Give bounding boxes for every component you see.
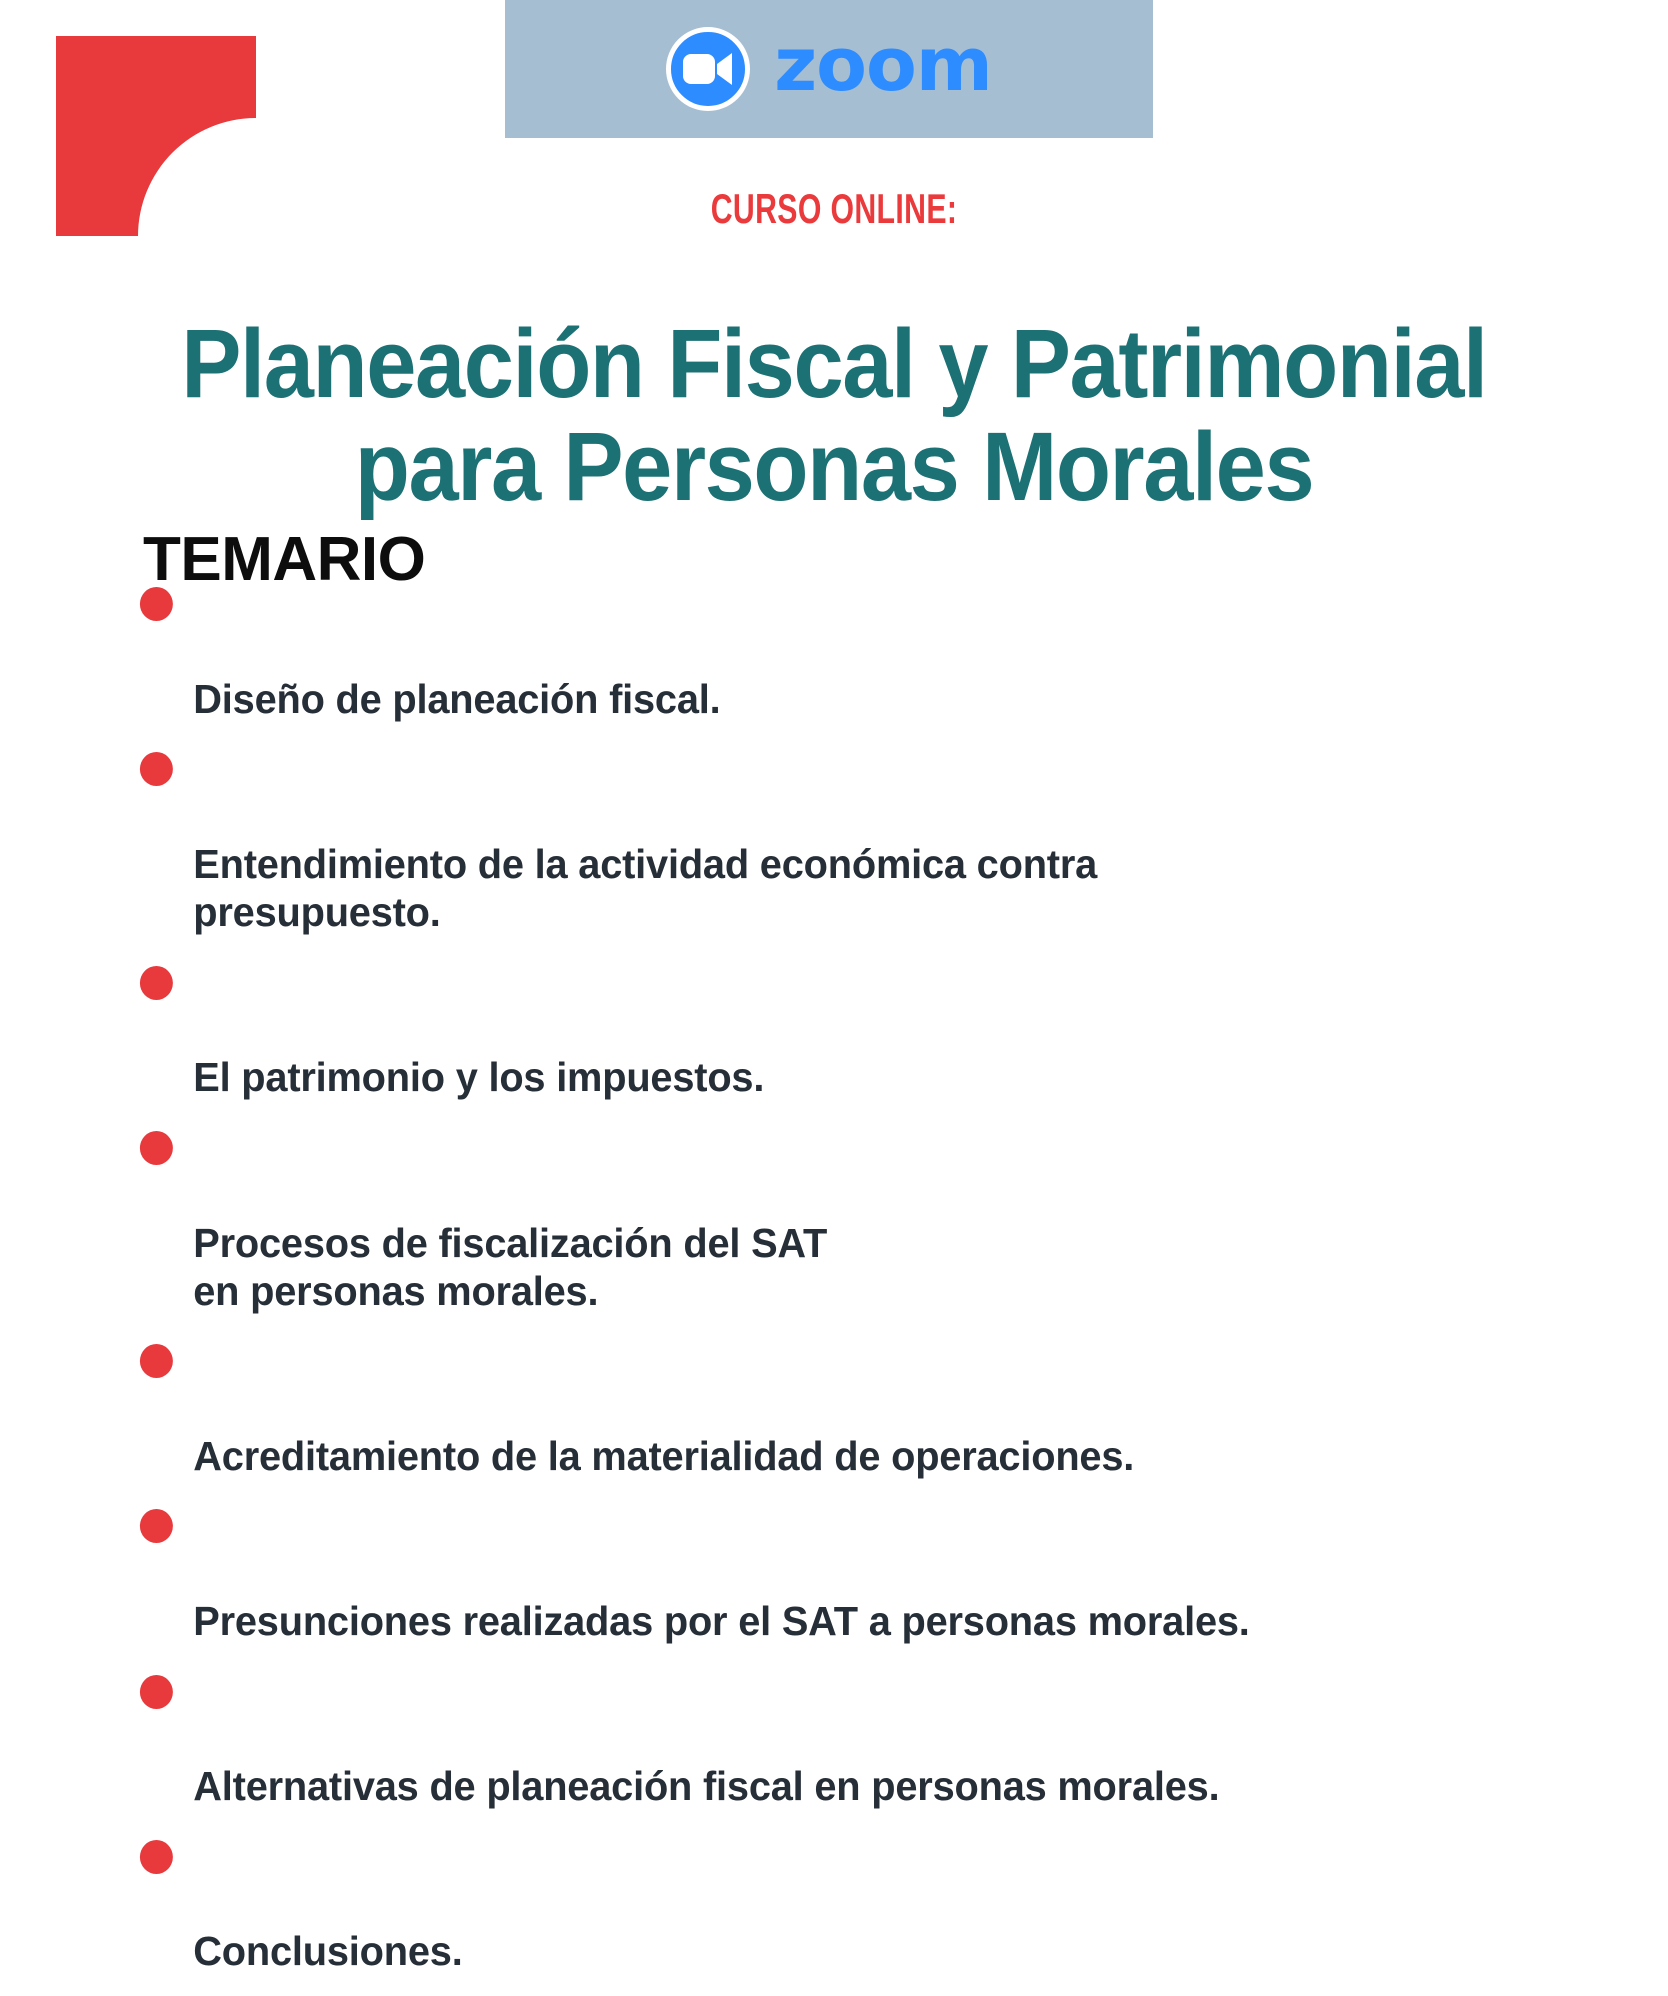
bullet-dot-icon <box>140 1840 173 1874</box>
list-item: Entendimiento de la actividad económica … <box>137 743 1544 937</box>
bullet-dot-icon <box>140 1344 173 1378</box>
list-item-label: Entendimiento de la actividad económica … <box>193 841 1097 935</box>
agenda-topic-list: Diseño de planeación fiscal. Entendimien… <box>137 578 1587 1996</box>
course-eyebrow-label: CURSO ONLINE: <box>234 185 1435 233</box>
bullet-dot-icon <box>140 752 173 786</box>
bullet-dot-icon <box>140 587 173 621</box>
list-item-label: Conclusiones. <box>193 1928 462 1974</box>
list-item: Acreditamiento de la materialidad de ope… <box>137 1335 1544 1480</box>
zoom-wordmark: zoom <box>774 28 992 102</box>
list-item: El patrimonio y los impuestos. <box>137 957 1544 1102</box>
bullet-dot-icon <box>140 1131 173 1165</box>
list-item: Procesos de fiscalización del SAT en per… <box>137 1122 1544 1316</box>
bullet-dot-icon <box>140 1509 173 1543</box>
zoom-logo-icon <box>666 27 750 111</box>
bullet-dot-icon <box>140 1675 173 1709</box>
bullet-dot-icon <box>140 966 173 1000</box>
list-item-label: Acreditamiento de la materialidad de ope… <box>193 1433 1134 1479</box>
list-item-label: Diseño de planeación fiscal. <box>193 676 720 722</box>
list-item: Diseño de planeación fiscal. <box>137 578 1544 723</box>
list-item: Alternativas de planeación fiscal en per… <box>137 1666 1544 1811</box>
red-quarter-arc-decoration <box>56 36 256 236</box>
video-camera-icon <box>683 52 733 86</box>
page-title: Planeación Fiscal y Patrimonial para Per… <box>58 313 1609 519</box>
list-item: Conclusiones. <box>137 1831 1544 1976</box>
list-item-label: Presunciones realizadas por el SAT a per… <box>193 1598 1249 1644</box>
list-item-label: Procesos de fiscalización del SAT en per… <box>193 1220 827 1314</box>
list-item: Presunciones realizadas por el SAT a per… <box>137 1500 1544 1645</box>
list-item-label: El patrimonio y los impuestos. <box>193 1054 764 1100</box>
zoom-platform-banner: zoom <box>505 0 1153 138</box>
list-item-label: Alternativas de planeación fiscal en per… <box>193 1763 1219 1809</box>
